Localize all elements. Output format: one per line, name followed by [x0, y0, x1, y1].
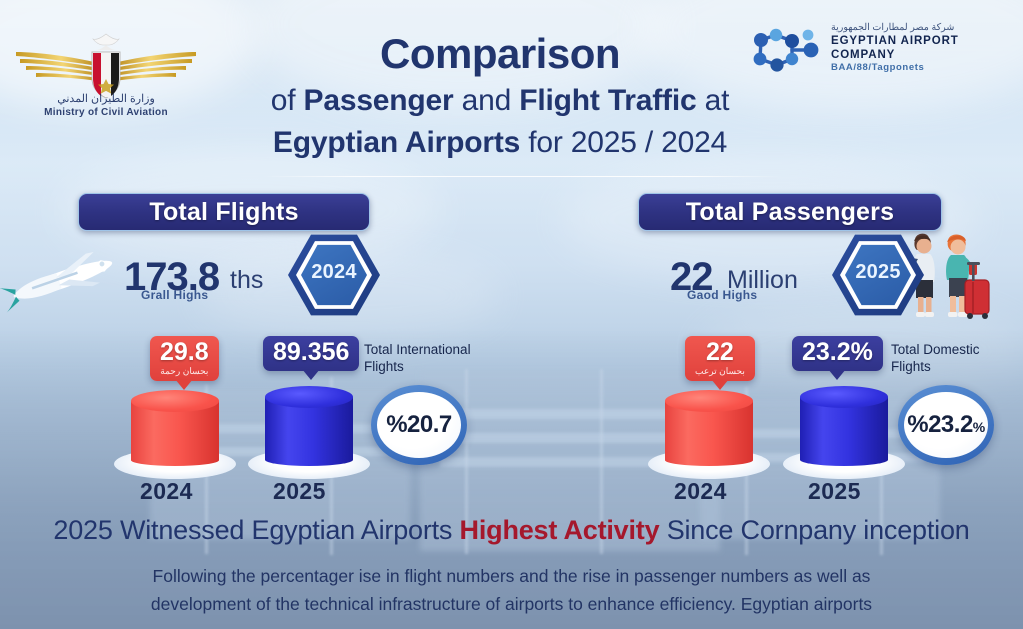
airplane-icon	[0, 236, 126, 318]
kpi-subtitle-total-flights: Grall Highs	[141, 288, 208, 302]
bar-top-ellipse	[131, 390, 219, 412]
bar-callout-2024-flights: 29.8 بحسان رحمة	[150, 336, 219, 381]
callout-tail	[711, 379, 729, 390]
bar-top-ellipse	[800, 386, 888, 408]
bar-callout-2025-passengers: 23.2%	[792, 336, 883, 371]
bar-callout-value: 23.2%	[802, 339, 873, 366]
title-line2-mid: and	[454, 84, 520, 117]
bar-top-ellipse	[265, 386, 353, 408]
title-line3-rest: for 2025 / 2024	[520, 126, 727, 159]
bar-year-label-2024-flights: 2024	[140, 478, 193, 505]
title-line2-pre: of	[271, 84, 304, 117]
callout-tail	[175, 379, 193, 390]
title-line3-bold-egyptian-airports: Egyptian Airports	[273, 126, 520, 159]
footer-paragraph-line-2: development of the technical infrastruct…	[26, 590, 997, 618]
side-label-domestic-flights: Total Domestic Flights	[891, 341, 1011, 375]
banner-label-total-passengers: Total Passengers	[686, 198, 894, 227]
bar-callout-value: 22	[706, 339, 734, 366]
bar-cylinder-2024-passengers	[665, 390, 753, 466]
growth-badge-value: %23.2%	[907, 411, 985, 439]
footer-headline-post: Since Cornpany inception	[659, 515, 969, 545]
page-title: Comparison of Passenger and Flight Traff…	[180, 28, 820, 164]
footer-headline-highlight: Highest Activity	[460, 515, 660, 545]
callout-tail	[302, 369, 320, 380]
section-banner-total-flights: Total Flights	[78, 193, 370, 231]
bar-cylinder-2025-passengers	[800, 386, 888, 466]
footer-headline-pre: 2025 Witnessed Egyptian Airports	[53, 515, 459, 545]
bar-callout-arabic: بحسان ترعب	[695, 366, 745, 376]
kpi-subtitle-total-passengers: Gaod Highs	[687, 288, 757, 302]
bar-cylinder-2024-flights	[131, 390, 219, 466]
bar-year-label-2025-passengers: 2025	[808, 478, 861, 505]
growth-badge-domestic: %23.2%	[898, 385, 994, 465]
company-logo-arabic: شركة مصر لمطارات الجمهورية	[831, 22, 1003, 34]
growth-badge-value: %20.7	[386, 411, 452, 439]
bar-callout-value: 29.8	[160, 339, 209, 366]
eagle-shield-icon	[83, 32, 129, 100]
growth-badge-inner: %20.7	[377, 392, 461, 458]
ministry-logo-english: Ministry of Civil Aviation	[8, 107, 204, 118]
kpi-unit-total-flights: ths	[230, 266, 263, 295]
company-logo-english: EGYPTIAN AIRPORT COMPANY	[831, 34, 1003, 62]
title-line2-bold-flight-traffic: Flight Traffic	[519, 84, 696, 117]
bar-cylinder-2025-flights	[265, 386, 353, 466]
bar-callout-2024-passengers: 22 بحسان ترعب	[685, 336, 755, 381]
title-line-3: Egyptian Airports for 2025 / 2024	[180, 122, 820, 164]
footer-headline: 2025 Witnessed Egyptian Airports Highest…	[0, 515, 1023, 546]
title-line-1: Comparison	[180, 28, 820, 80]
bar-callout-arabic: بحسان رحمة	[160, 366, 208, 376]
section-banner-total-passengers: Total Passengers	[638, 193, 942, 231]
bar-callout-2025-flights: 89.356	[263, 336, 359, 371]
side-label-international-flights: Total International Flights	[364, 341, 488, 375]
title-line2-post: at	[696, 84, 729, 117]
title-line2-bold-passenger: Passenger	[304, 84, 454, 117]
infographic-poster: وزارة الطيران المدني Ministry of Civil A…	[0, 0, 1023, 629]
bar-year-label-2024-passengers: 2024	[674, 478, 727, 505]
footer-paragraph: Following the percentager ise in flight …	[26, 562, 997, 618]
title-divider	[262, 176, 782, 177]
title-line-2: of Passenger and Flight Traffic at	[180, 80, 820, 122]
company-logo-subtitle: BAA/88/Tagponets	[831, 62, 1003, 74]
ministry-of-civil-aviation-logo: وزارة الطيران المدني Ministry of Civil A…	[8, 18, 204, 128]
ministry-logo-arabic: وزارة الطيران المدني	[8, 92, 204, 105]
footer-paragraph-line-1: Following the percentager ise in flight …	[26, 562, 997, 590]
bar-top-ellipse	[665, 390, 753, 412]
callout-tail	[828, 369, 846, 380]
year-badge-label: 2025	[832, 261, 924, 284]
bar-year-label-2025-flights: 2025	[273, 478, 326, 505]
growth-badge-inner: %23.2%	[904, 392, 988, 458]
year-badge-2025: 2025	[832, 232, 924, 318]
bar-callout-value: 89.356	[273, 339, 349, 366]
year-badge-label: 2024	[288, 261, 380, 284]
growth-badge-international: %20.7	[371, 385, 467, 465]
banner-label-total-flights: Total Flights	[149, 198, 298, 227]
year-badge-2024: 2024	[288, 232, 380, 318]
